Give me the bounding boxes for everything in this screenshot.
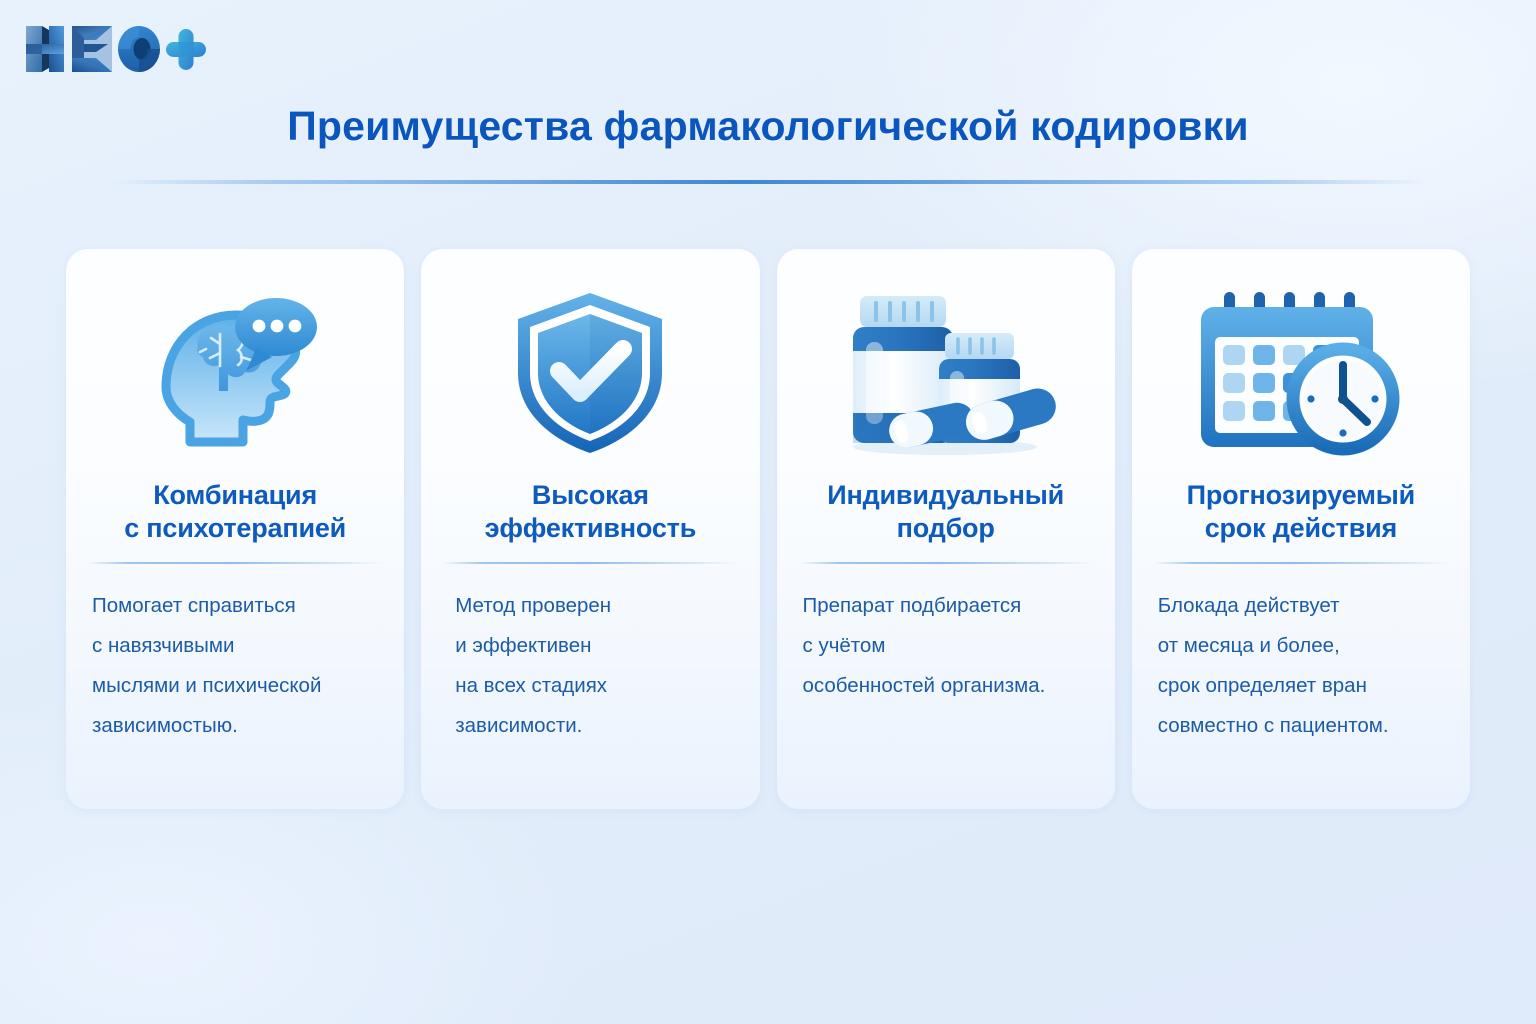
benefit-card-list: Комбинация с психотерапией Помогает спра… — [66, 249, 1470, 809]
card-divider — [799, 562, 1093, 564]
pill-bottles-capsules-icon — [799, 283, 1093, 463]
page-title: Преимущества фармакологической кодировки — [0, 104, 1536, 150]
logo-letter-n — [26, 26, 64, 72]
benefit-card-body: Помогает справиться с навязчивыми мыслям… — [88, 586, 382, 746]
title-divider — [110, 180, 1426, 184]
logo-letter-e — [72, 26, 112, 72]
benefit-card-duration[interactable]: Прогнозируемый срок действия Блокада дей… — [1132, 249, 1470, 809]
benefit-card-body: Блокада действует от месяца и более, сро… — [1154, 586, 1448, 746]
card-divider — [88, 562, 382, 564]
brand-logo[interactable] — [18, 18, 208, 80]
shield-check-icon — [443, 283, 737, 463]
benefit-card-title: Прогнозируемый срок действия — [1187, 479, 1415, 546]
benefit-card-body: Метод проверен и эффективен на всех стад… — [443, 586, 737, 746]
benefit-card-title: Высокая эффективность — [485, 479, 696, 546]
benefit-card-body: Препарат подбирается с учётом особенност… — [799, 586, 1093, 706]
page-title-wrap: Преимущества фармакологической кодировки — [0, 104, 1536, 150]
benefit-card-title: Индивидуальный подбор — [827, 479, 1064, 546]
benefit-card-effectiveness[interactable]: Высокая эффективность Метод проверен и э… — [421, 249, 759, 809]
card-divider — [1154, 562, 1448, 564]
head-brain-speech-bubble-icon — [88, 283, 382, 463]
logo-plus-icon — [166, 29, 206, 70]
benefit-card-individual-selection[interactable]: Индивидуальный подбор Препарат подбирает… — [777, 249, 1115, 809]
calendar-clock-icon — [1154, 283, 1448, 463]
benefit-card-title: Комбинация с психотерапией — [124, 479, 346, 546]
logo-letter-o — [118, 26, 160, 72]
card-divider — [443, 562, 737, 564]
benefit-card-psychotherapy[interactable]: Комбинация с психотерапией Помогает спра… — [66, 249, 404, 809]
